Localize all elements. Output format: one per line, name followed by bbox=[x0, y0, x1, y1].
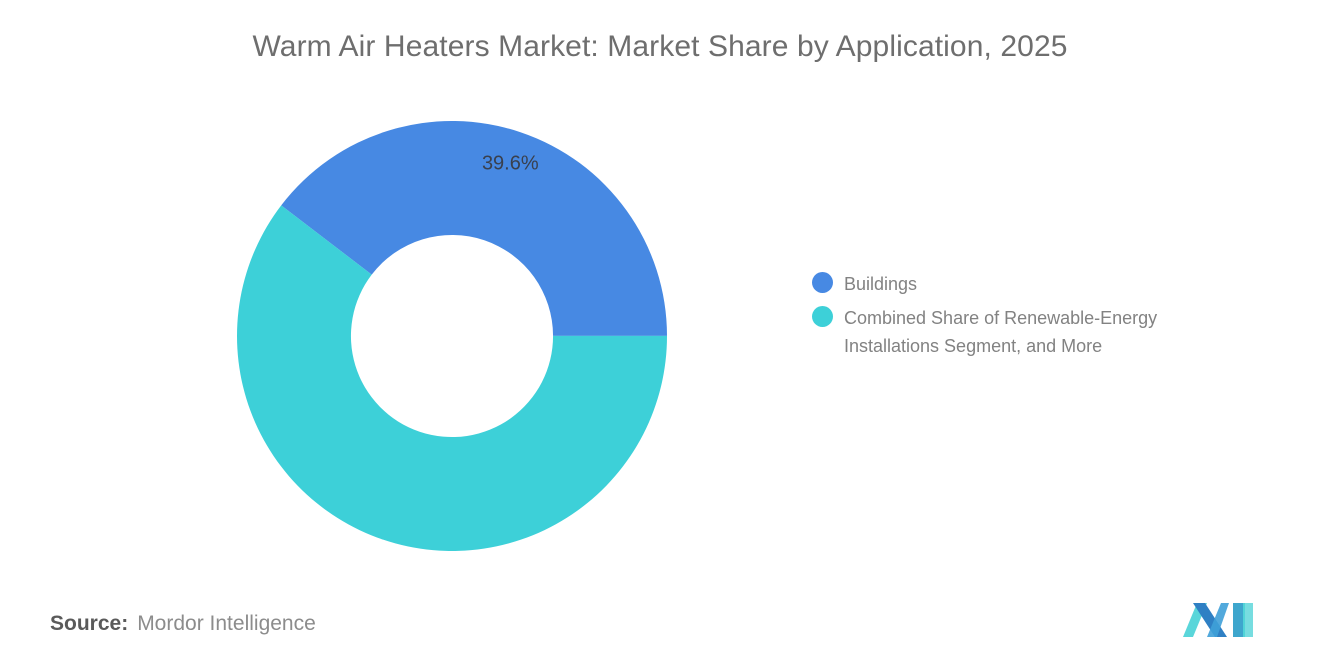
source-note: Source: Mordor Intelligence bbox=[50, 612, 316, 636]
legend-label-buildings: Buildings bbox=[844, 270, 917, 298]
donut-slices bbox=[237, 121, 667, 551]
legend-swatch-icon-combined-share bbox=[812, 306, 833, 327]
legend-item-combined-share[interactable]: Combined Share of Renewable-Energy Insta… bbox=[812, 304, 1272, 360]
page-title: Warm Air Heaters Market: Market Share by… bbox=[0, 30, 1320, 64]
legend-item-buildings[interactable]: Buildings bbox=[812, 270, 1272, 298]
logo-icon bbox=[1183, 597, 1259, 639]
donut-chart-svg bbox=[237, 121, 667, 551]
chart-legend: Buildings Combined Share of Renewable-En… bbox=[812, 270, 1272, 366]
donut-chart: 39.6% bbox=[237, 121, 667, 551]
source-value: Mordor Intelligence bbox=[137, 612, 316, 636]
legend-label-combined-share: Combined Share of Renewable-Energy Insta… bbox=[844, 304, 1244, 360]
source-label: Source: bbox=[50, 612, 128, 636]
mordor-intelligence-logo bbox=[1183, 597, 1259, 639]
legend-swatch-icon-buildings bbox=[812, 272, 833, 293]
